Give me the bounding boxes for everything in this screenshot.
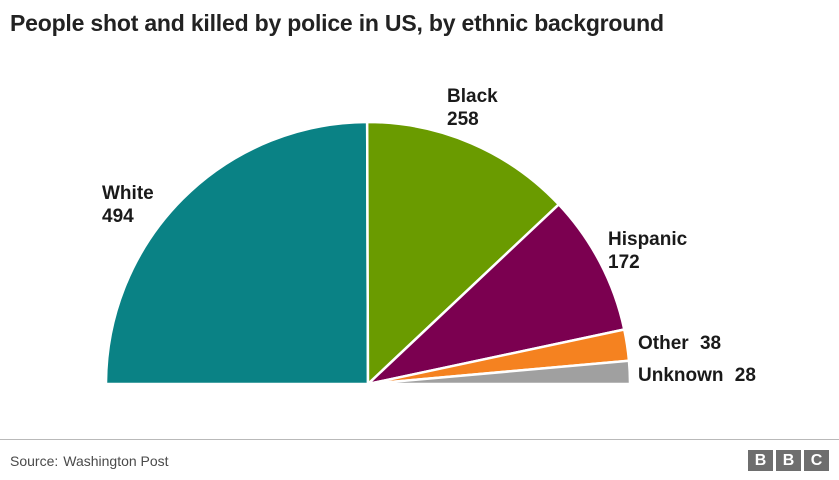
slice-label-other-value: 38 xyxy=(700,333,721,354)
slice-label-hispanic-name: Hispanic xyxy=(608,228,687,251)
bbc-logo: B B C xyxy=(748,450,829,471)
slice-label-other: Other 38 xyxy=(638,332,721,355)
source-label: Source: xyxy=(10,453,58,469)
bbc-logo-letter-1: B xyxy=(748,450,773,471)
slice-label-unknown: Unknown 28 xyxy=(638,364,756,387)
slice-label-unknown-value: 28 xyxy=(735,365,756,386)
slice-label-hispanic: Hispanic 172 xyxy=(608,228,687,274)
slice-label-white: White 494 xyxy=(102,182,154,228)
slice-label-black-name: Black xyxy=(447,85,498,108)
slice-label-black-value: 258 xyxy=(447,108,498,131)
slice-label-hispanic-value: 172 xyxy=(608,251,687,274)
bbc-logo-letter-2: B xyxy=(776,450,801,471)
slice-label-other-name: Other xyxy=(638,333,689,354)
footer-divider xyxy=(0,439,839,440)
pie-slice-white xyxy=(106,122,368,384)
bbc-logo-letter-3: C xyxy=(804,450,829,471)
chart-container: People shot and killed by police in US, … xyxy=(0,0,839,480)
slice-label-unknown-name: Unknown xyxy=(638,365,724,386)
source-value: Washington Post xyxy=(63,453,168,469)
slice-label-white-value: 494 xyxy=(102,205,154,228)
source-attribution: Source:Washington Post xyxy=(10,453,169,469)
slice-label-black: Black 258 xyxy=(447,85,498,131)
slice-label-white-name: White xyxy=(102,182,154,205)
pie-slices xyxy=(106,122,630,384)
